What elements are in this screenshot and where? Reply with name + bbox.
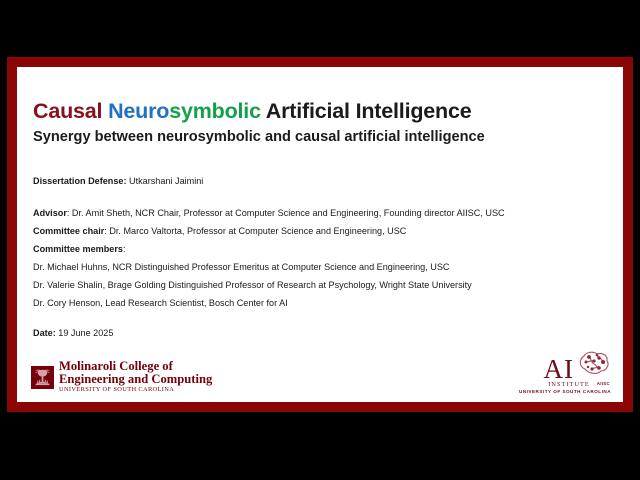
aiisc-wordmark: AI <box>544 357 575 382</box>
aiisc-acronym-label: AIISC <box>597 381 610 388</box>
molinaroli-wordmark: Molinaroli College of Engineering and Co… <box>59 360 212 394</box>
aiisc-university-label: UNIVERSITY OF SOUTH CAROLINA <box>519 389 611 394</box>
advisor-line: Advisor: Dr. Amit Sheth, NCR Chair, Prof… <box>33 209 505 218</box>
defense-label: Dissertation Defense: <box>33 176 127 186</box>
date-value: 19 June 2025 <box>56 328 114 338</box>
title-part-causal: Causal <box>33 99 108 123</box>
advisor-label: Advisor <box>33 208 67 218</box>
committee-member-item: Dr. Valerie Shalin, Brage Golding Distin… <box>33 281 472 290</box>
title-part-rest: Artificial Intelligence <box>261 99 472 123</box>
committee-members-heading: Committee members: <box>33 245 126 254</box>
advisor-value: : Dr. Amit Sheth, NCR Chair, Professor a… <box>67 208 505 218</box>
slide-viewport: Causal Neurosymbolic Artificial Intellig… <box>0 0 640 480</box>
date-line: Date: 19 June 2025 <box>33 329 113 338</box>
committee-chair-value: : Dr. Marco Valtorta, Professor at Compu… <box>104 226 406 236</box>
molinaroli-college-logo: Molinaroli College of Engineering and Co… <box>31 360 212 394</box>
committee-chair-label: Committee chair <box>33 226 104 236</box>
page-title: Causal Neurosymbolic Artificial Intellig… <box>33 101 471 123</box>
defense-line: Dissertation Defense: Utkarshani Jaimini <box>33 177 203 186</box>
date-label: Date: <box>33 328 56 338</box>
title-part-neuro: Neuro <box>108 99 169 123</box>
defense-value: Utkarshani Jaimini <box>127 176 204 186</box>
committee-members-label: Committee members <box>33 244 123 254</box>
committee-member-item: Dr. Cory Henson, Lead Research Scientist… <box>33 299 288 308</box>
molinaroli-line3: UNIVERSITY OF SOUTH CAROLINA <box>59 387 212 394</box>
committee-chair-line: Committee chair: Dr. Marco Valtorta, Pro… <box>33 227 406 236</box>
committee-member-item: Dr. Michael Huhns, NCR Distinguished Pro… <box>33 263 449 272</box>
aiisc-logo: AI <box>519 352 611 396</box>
molinaroli-line2: Engineering and Computing <box>59 373 212 386</box>
committee-members-colon: : <box>123 244 126 254</box>
slide-red-frame: Causal Neurosymbolic Artificial Intellig… <box>7 57 633 412</box>
aiisc-sublabels: INSTITUTE AIISC <box>519 381 611 388</box>
slide-surface: Causal Neurosymbolic Artificial Intellig… <box>17 67 623 402</box>
brain-network-icon <box>577 349 611 382</box>
aiisc-logo-row: AI <box>519 352 611 382</box>
page-subtitle: Synergy between neurosymbolic and causal… <box>33 130 485 145</box>
title-part-symbolic: symbolic <box>169 99 261 123</box>
aiisc-institute-label: INSTITUTE <box>548 381 590 388</box>
palmetto-tree-icon <box>31 366 54 389</box>
